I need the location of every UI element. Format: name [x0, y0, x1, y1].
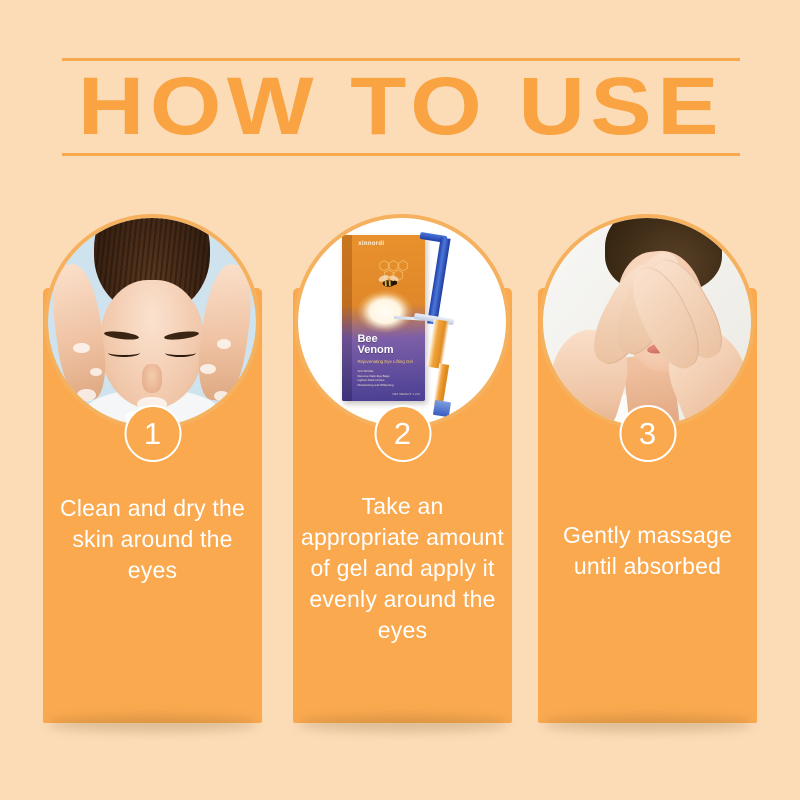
step-number-badge: 1 [124, 405, 181, 462]
title-rule-bottom [62, 153, 740, 156]
title-block: HOW TO USE [62, 58, 740, 156]
syringe-cap [433, 400, 451, 417]
step-number-badge: 3 [619, 405, 676, 462]
product-subtitle: Rejuvenating Eye Lifting Gel [357, 359, 412, 364]
glow-ring-graphic [357, 290, 414, 333]
syringe-plunger [427, 237, 451, 325]
page-title: HOW TO USE [21, 58, 780, 156]
card-shadow [297, 716, 508, 732]
product-net-weight: NET WEIGHT: 1.2ml [392, 392, 419, 396]
step-caption: Gently massage until absorbed [544, 520, 751, 582]
product-name: Bee Venom [357, 334, 393, 356]
woman-washing-face-photo [48, 218, 256, 426]
step-caption: Clean and dry the skin around the eyes [49, 493, 256, 586]
step-card-1: 1 Clean and dry the skin around the eyes [43, 288, 262, 723]
step-card-2: xinnordi [293, 288, 512, 723]
steps-row: 1 Clean and dry the skin around the eyes… [43, 288, 757, 723]
woman-massaging-face-photo [543, 218, 751, 426]
step-number-label: 2 [394, 418, 411, 449]
bee-venom-product-box-photo: xinnordi [298, 218, 506, 426]
card-shadow [47, 716, 258, 732]
how-to-use-infographic: HOW TO USE [0, 0, 800, 800]
product-bullets: Anti Wrinkle Remove Dark Eye Bags Lighte… [357, 369, 393, 387]
product-brand-logo: xinnordi [358, 241, 384, 247]
card-shadow [542, 716, 753, 732]
syringe-barrel [426, 319, 449, 369]
step-number-label: 3 [639, 418, 656, 449]
step-number-label: 1 [144, 418, 161, 449]
step-card-3: 3 Gently massage until absorbed [538, 288, 757, 723]
step-caption: Take an appropriate amount of gel and ap… [299, 491, 506, 646]
step-number-badge: 2 [374, 405, 431, 462]
